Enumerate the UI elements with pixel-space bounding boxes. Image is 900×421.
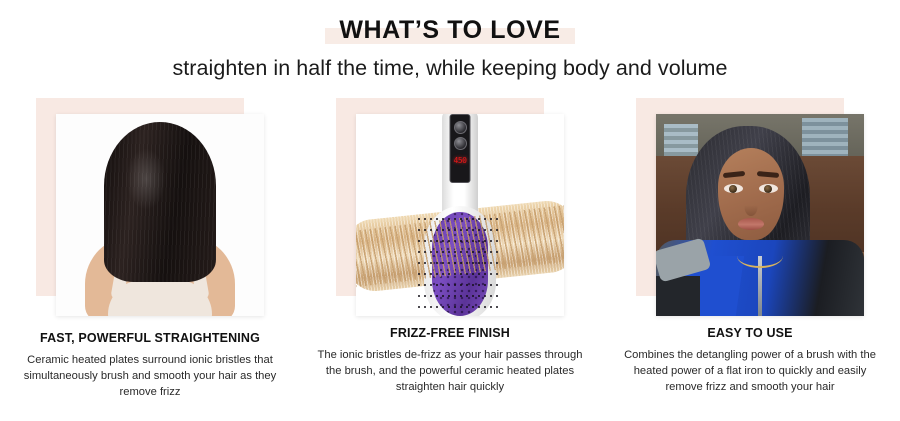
- photo2-temp-button: [454, 137, 467, 150]
- feature-image-3: [656, 114, 864, 316]
- photo2-power-button: [454, 121, 467, 134]
- photo2-led-display: 450: [454, 156, 467, 165]
- feature-card-2: 450 FRIZZ-FREE FINISH The ionic bristles…: [300, 98, 600, 400]
- photo2-bristle-row: [418, 273, 502, 275]
- feature-card-1: FAST, POWERFUL STRAIGHTENING Ceramic hea…: [0, 98, 300, 400]
- photo1-tank-top: [108, 280, 212, 316]
- feature-image-1: [56, 114, 264, 316]
- photo2-control-panel: 450: [450, 114, 471, 183]
- feature-heading-3: EASY TO USE: [600, 325, 900, 341]
- photo3-nose: [745, 198, 758, 216]
- feature-heading-1: FAST, POWERFUL STRAIGHTENING: [0, 330, 300, 346]
- photo3-window-blind-left: [664, 124, 698, 158]
- feature-body-3: Combines the detangling power of a brush…: [600, 347, 900, 395]
- photo3-eye-left: [724, 184, 743, 193]
- photo1-hair-sheen: [126, 148, 166, 210]
- photo2-bristle-row: [418, 295, 502, 297]
- photo2-bristle-row: [418, 240, 502, 242]
- photo2-bristle-row: [418, 251, 502, 253]
- photo2-bristle-row: [418, 262, 502, 264]
- feature-caption-3: EASY TO USE Combines the detangling powe…: [600, 316, 900, 395]
- feature-body-1: Ceramic heated plates surround ionic bri…: [0, 352, 300, 400]
- photo3-lips: [738, 218, 764, 230]
- photo2-bristle-pad: [432, 212, 488, 316]
- feature-image-2: 450: [356, 114, 564, 316]
- photo2-bristle-row: [418, 218, 502, 220]
- feature-columns: FAST, POWERFUL STRAIGHTENING Ceramic hea…: [0, 98, 900, 400]
- photo3-eyebrow-left: [723, 171, 745, 178]
- feature-card-3: EASY TO USE Combines the detangling powe…: [600, 98, 900, 400]
- photo-frame-3: [636, 98, 864, 316]
- photo-frame-1: [36, 98, 264, 316]
- photo-frame-2: 450: [336, 98, 564, 316]
- feature-caption-2: FRIZZ-FREE FINISH The ionic bristles de-…: [300, 316, 600, 395]
- page-title: WHAT’S TO LOVE: [325, 14, 574, 46]
- page-title-text: WHAT’S TO LOVE: [339, 14, 560, 46]
- feature-body-2: The ionic bristles de-frizz as your hair…: [300, 347, 600, 395]
- photo1-hair: [104, 122, 216, 282]
- photo2-bristle-row: [418, 229, 502, 231]
- photo3-eye-right: [759, 184, 778, 193]
- section-header: WHAT’S TO LOVE straighten in half the ti…: [0, 0, 900, 82]
- feature-heading-2: FRIZZ-FREE FINISH: [300, 325, 600, 341]
- photo2-bristle-row: [418, 284, 502, 286]
- photo2-bristle-row: [418, 306, 502, 308]
- photo3-jacket-dark-panel: [656, 276, 700, 316]
- page-subtitle: straighten in half the time, while keepi…: [0, 54, 900, 82]
- photo3-face: [718, 148, 784, 240]
- photo3-eyebrow-right: [757, 171, 779, 178]
- feature-caption-1: FAST, POWERFUL STRAIGHTENING Ceramic hea…: [0, 316, 300, 400]
- photo3-necklace: [737, 244, 783, 268]
